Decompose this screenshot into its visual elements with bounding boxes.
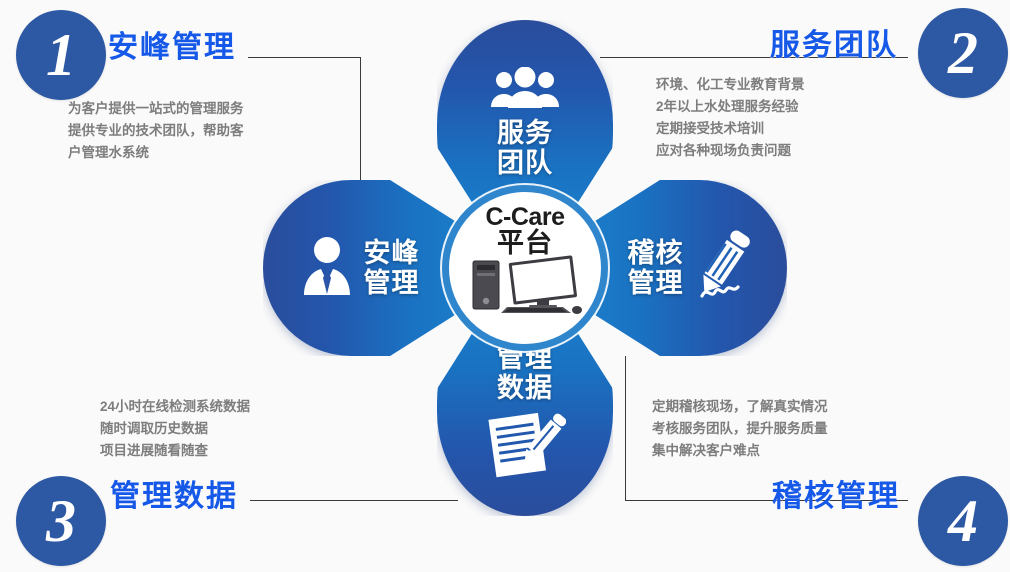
number-badge-2: 2: [918, 8, 1008, 98]
petal-label-line: 管理: [364, 268, 420, 298]
center-hub-brand: C-Care: [486, 204, 565, 230]
infographic-canvas: 1 2 3 4 安峰管理 服务团队 管理数据 稽核管理 为客户提供一站式的管理服…: [0, 0, 1010, 572]
desktop-computer-icon: [467, 255, 583, 326]
petal-label-line: 安峰: [364, 238, 420, 268]
petal-label-line: 稽核: [628, 238, 684, 268]
section-heading-1: 安峰管理: [108, 22, 236, 66]
section-body-3-line: 24小时在线检测系统数据: [100, 396, 250, 418]
section-body-3: 24小时在线检测系统数据 随时调取历史数据 项目进展随看随查: [100, 396, 250, 462]
petal-management-data-label: 管理 数据: [497, 343, 553, 403]
section-body-1-line: 为客户提供一站式的管理服务: [68, 98, 244, 120]
number-badge-1-value: 1: [46, 25, 76, 85]
number-badge-2-value: 2: [948, 23, 978, 83]
section-heading-3: 管理数据: [110, 471, 238, 515]
petal-label-line: 团队: [497, 148, 553, 178]
number-badge-4-value: 4: [948, 491, 978, 551]
petal-label-line: 管理: [628, 268, 684, 298]
clipboard-pencil-icon: [484, 407, 566, 484]
pencil-signature-icon: [692, 226, 756, 311]
center-hub-subtitle: 平台: [497, 230, 553, 257]
center-hub[interactable]: C-Care 平台: [442, 185, 608, 351]
people-group-icon: [488, 67, 562, 114]
section-body-1-line: 户管理水系统: [68, 142, 244, 164]
petal-service-team-label: 服务 团队: [497, 118, 553, 178]
businessman-icon: [298, 235, 356, 302]
petal-anfeng-management-label: 安峰 管理: [364, 238, 420, 298]
petal-label-line: 服务: [497, 118, 553, 148]
section-body-1-line: 提供专业的技术团队，帮助客: [68, 120, 244, 142]
section-body-1: 为客户提供一站式的管理服务 提供专业的技术团队，帮助客 户管理水系统: [68, 98, 244, 164]
number-badge-4: 4: [918, 476, 1008, 566]
petal-label-line: 数据: [497, 373, 553, 403]
flower-diagram: 服务 团队: [255, 8, 795, 528]
section-body-3-line: 项目进展随看随查: [100, 440, 250, 462]
number-badge-3-value: 3: [46, 491, 76, 551]
section-body-3-line: 随时调取历史数据: [100, 418, 250, 440]
petal-audit-management-label: 稽核 管理: [628, 238, 684, 298]
number-badge-1: 1: [16, 10, 106, 100]
number-badge-3: 3: [16, 476, 106, 566]
